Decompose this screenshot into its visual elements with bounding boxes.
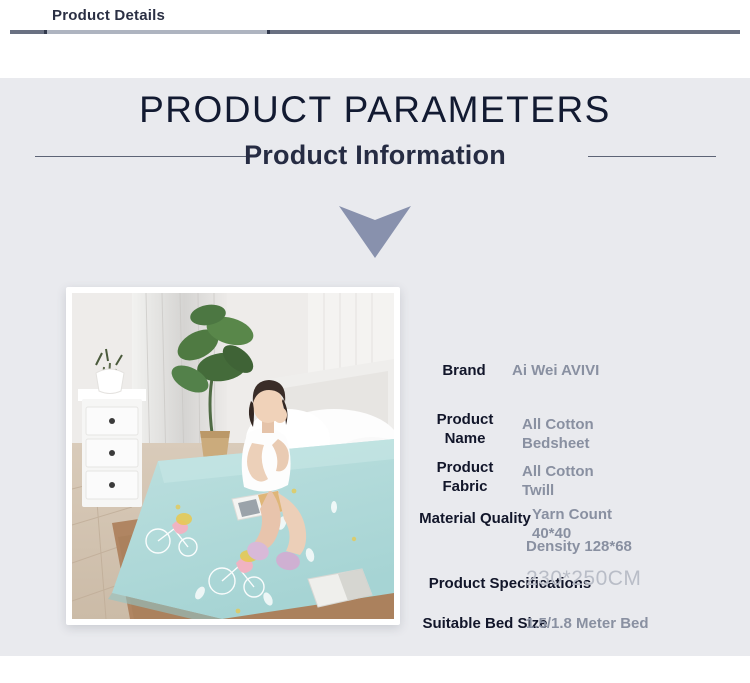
product-spec-list: Brand Ai Wei AVIVI Product Name All Cott… [410,287,730,627]
spec-label-product-name: Product Name [418,410,512,448]
section-subtitle: Product Information [0,140,750,171]
tab-product-details[interactable]: Product Details [52,7,165,24]
spec-value-suitable-bed-size: 1.5/1.8 Meter Bed [526,614,649,633]
spec-label-product-fabric: Product Fabric [418,458,512,496]
spec-value-product-name: All Cotton Bedsheet [522,415,594,453]
spec-label-material-quality: Material Quality [416,509,534,528]
tab-active-indicator [44,30,270,34]
spec-value-product-fabric: All Cotton Twill [522,462,594,500]
product-image[interactable] [72,293,394,619]
product-parameters-panel: PRODUCT PARAMETERS Product Information [0,78,750,656]
page-title: PRODUCT PARAMETERS [0,89,750,131]
spec-value-material-density: Density 128*68 [526,537,632,556]
subheading-block: Product Information [0,140,750,174]
product-image-frame[interactable] [66,287,400,625]
spec-label-brand: Brand [424,361,504,380]
spec-value-product-specifications: 230*250CM [526,569,641,588]
tab-header: Product Details [0,0,750,78]
spec-value-brand: Ai Wei AVIVI [512,361,599,380]
